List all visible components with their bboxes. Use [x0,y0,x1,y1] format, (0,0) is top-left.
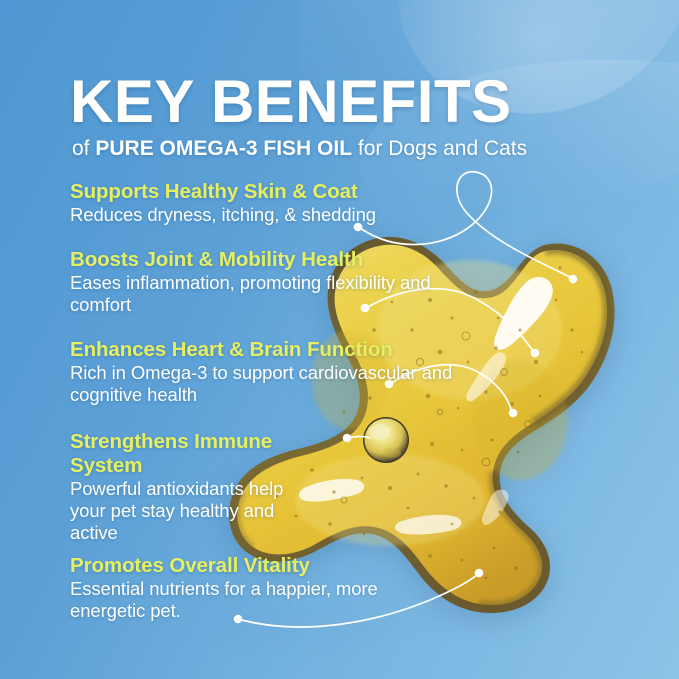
benefit-item-joint-mobility: Boosts Joint & Mobility Health Eases inf… [70,248,470,316]
key-benefits-poster: KEY BENEFITS of PURE OMEGA-3 FISH OIL fo… [0,0,679,679]
benefit-item-skin-coat: Supports Healthy Skin & Coat Reduces dry… [70,180,470,226]
subtitle-prefix: of [72,137,95,160]
benefit-item-immune-system: Strengthens Immune System Powerful antio… [70,430,470,544]
benefit-title: Boosts Joint & Mobility Health [70,248,470,272]
benefits-list: Supports Healthy Skin & Coat Reduces dry… [70,180,470,636]
subtitle-suffix: for Dogs and Cats [352,137,527,160]
benefit-description: Rich in Omega-3 to support cardiovascula… [70,362,470,406]
benefit-item-heart-brain: Enhances Heart & Brain Function Rich in … [70,338,470,406]
page-subtitle: of PURE OMEGA-3 FISH OIL for Dogs and Ca… [72,138,527,159]
benefit-description: Eases inflammation, promoting flexibilit… [70,272,470,316]
benefit-description: Essential nutrients for a happier, more … [70,578,412,622]
benefit-title: Supports Healthy Skin & Coat [70,180,470,204]
benefit-title: Strengthens Immune System [70,430,310,478]
page-title: KEY BENEFITS [70,72,512,132]
benefit-description: Powerful antioxidants help your pet stay… [70,478,318,544]
subtitle-bold: PURE OMEGA-3 FISH OIL [95,137,352,160]
benefit-title: Promotes Overall Vitality [70,554,470,578]
benefit-title: Enhances Heart & Brain Function [70,338,470,362]
benefit-description: Reduces dryness, itching, & shedding [70,204,470,226]
benefit-item-vitality: Promotes Overall Vitality Essential nutr… [70,554,470,622]
